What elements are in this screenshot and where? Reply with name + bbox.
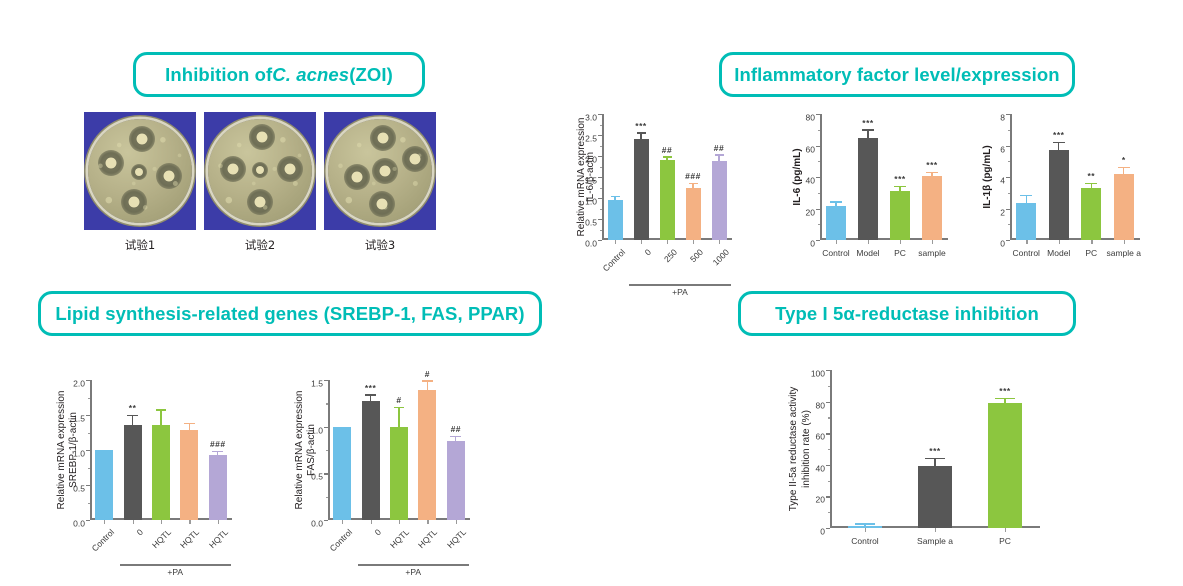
error-bar-cap bbox=[862, 129, 874, 130]
x-tick-mark bbox=[836, 240, 837, 244]
significance-marker: ## bbox=[662, 145, 672, 155]
error-bar-cap bbox=[365, 394, 376, 395]
significance-marker: ### bbox=[210, 439, 226, 449]
y-tick-mark bbox=[816, 146, 820, 147]
error-bar-cap bbox=[925, 458, 945, 459]
error-bar bbox=[931, 173, 932, 176]
y-tick-minor bbox=[828, 417, 831, 418]
y-axis-label-line2: IL-6/β-actin bbox=[585, 152, 598, 202]
y-tick-mark bbox=[1006, 240, 1010, 241]
x-tick-mark bbox=[932, 240, 933, 244]
y-tick-mark bbox=[826, 465, 830, 466]
bar-model bbox=[1049, 150, 1069, 240]
x-tick-mark bbox=[1005, 528, 1006, 532]
y-tick-minor bbox=[600, 125, 603, 126]
x-tick-mark bbox=[427, 520, 428, 524]
error-bar-cap bbox=[422, 380, 433, 381]
y-axis bbox=[820, 114, 822, 240]
bar-pc bbox=[988, 403, 1022, 528]
significance-marker: *** bbox=[929, 446, 940, 456]
group-bracket-label: +PA bbox=[167, 567, 183, 577]
x-tick-mark bbox=[399, 520, 400, 524]
x-tick-label: sample a bbox=[1107, 248, 1142, 258]
y-tick-mark bbox=[1006, 209, 1010, 210]
inhibition-zone bbox=[220, 156, 246, 182]
error-bar-cap bbox=[611, 196, 620, 197]
inhibition-zone bbox=[344, 164, 370, 190]
bar-control bbox=[826, 206, 846, 240]
reduct-title-text: Type I 5α-reductase inhibition bbox=[775, 303, 1039, 325]
x-tick-mark bbox=[865, 528, 866, 532]
y-axis bbox=[830, 370, 832, 528]
x-tick-mark bbox=[667, 240, 668, 244]
inhibition-zone bbox=[131, 164, 147, 180]
x-tick-mark bbox=[456, 520, 457, 524]
petri-caption-3: 试验3 bbox=[324, 237, 436, 253]
y-tick-minor bbox=[600, 167, 603, 168]
petri-plate-2: 试验2 bbox=[204, 112, 316, 253]
y-axis-label-line1: Relative mRNA expression bbox=[294, 391, 307, 510]
petri-plate-3: 试验3 bbox=[324, 112, 436, 253]
error-bar bbox=[835, 203, 836, 206]
y-tick-mark bbox=[826, 528, 830, 529]
bar-0 bbox=[634, 139, 649, 240]
significance-marker: *** bbox=[1053, 130, 1064, 140]
petri-dish-panel: 试验1试验2试验3 bbox=[84, 112, 436, 252]
group-bracket-label: +PA bbox=[405, 567, 421, 577]
error-bar-cap bbox=[1053, 142, 1065, 143]
x-tick-mark bbox=[133, 520, 134, 524]
x-tick-mark bbox=[900, 240, 901, 244]
error-bar-cap bbox=[995, 398, 1015, 399]
error-bar-cap bbox=[127, 415, 138, 416]
y-tick-minor bbox=[818, 130, 821, 131]
error-bar-cap bbox=[1085, 183, 1097, 184]
x-tick-label: Model bbox=[1047, 248, 1070, 258]
bar-model bbox=[858, 138, 878, 240]
bar-hqtl bbox=[180, 430, 198, 520]
bar-0 bbox=[362, 401, 380, 520]
error-bar bbox=[718, 156, 719, 161]
agar-plate bbox=[88, 119, 192, 223]
y-tick-mark bbox=[598, 219, 602, 220]
x-tick-label: Sample a bbox=[917, 536, 953, 546]
y-tick-mark bbox=[598, 198, 602, 199]
error-bar-cap bbox=[450, 436, 461, 437]
x-tick-mark bbox=[189, 520, 190, 524]
y-tick-mark bbox=[1006, 114, 1010, 115]
error-bar bbox=[1058, 143, 1059, 150]
agar-plate bbox=[328, 119, 432, 223]
bar-control bbox=[95, 450, 113, 520]
y-tick-minor bbox=[818, 193, 821, 194]
significance-marker: *** bbox=[635, 121, 646, 131]
x-tick-label: PC bbox=[1085, 248, 1097, 258]
petri-image-3 bbox=[324, 112, 436, 230]
significance-marker: ## bbox=[451, 424, 461, 434]
error-bar-cap bbox=[715, 154, 724, 155]
inhibition-zone bbox=[129, 126, 155, 152]
y-tick-minor bbox=[600, 230, 603, 231]
error-bar-cap bbox=[184, 423, 195, 424]
error-bar-cap bbox=[894, 186, 906, 187]
y-axis-label-line2: inhibition rate (%) bbox=[801, 410, 814, 488]
y-tick-mark bbox=[826, 402, 830, 403]
group-bracket-line bbox=[358, 564, 469, 566]
x-tick-mark bbox=[342, 520, 343, 524]
chart-srebp1-expression: Control0HQTLHQTLHQTL0.00.51.01.52.0**###… bbox=[48, 372, 246, 578]
error-bar bbox=[160, 411, 161, 425]
x-tick-label: Control bbox=[822, 248, 849, 258]
y-tick-mark bbox=[324, 520, 328, 521]
group-bracket-label: +PA bbox=[672, 287, 688, 297]
petri-caption-2: 试验2 bbox=[204, 237, 316, 253]
bar-sample-a bbox=[918, 466, 952, 528]
y-axis-label-line1: Relative mRNA expression bbox=[56, 391, 69, 510]
inhibition-zone bbox=[277, 156, 303, 182]
y-tick-mark bbox=[598, 156, 602, 157]
y-tick-minor bbox=[326, 450, 329, 451]
y-tick-mark bbox=[86, 415, 90, 416]
chart-il6-concentration: ControlModelPCsample020406080*********IL… bbox=[788, 106, 962, 298]
y-axis-label-line1: Type II-5a reductase activity bbox=[788, 387, 801, 512]
y-axis-label-line2: SREBP-1/β-actin bbox=[68, 412, 81, 488]
bar-control bbox=[1016, 203, 1036, 240]
y-tick-mark bbox=[826, 496, 830, 497]
x-tick-label: sample bbox=[918, 248, 945, 258]
inhibition-zone bbox=[98, 150, 124, 176]
error-bar-cap bbox=[394, 407, 405, 408]
section-title-lipid: Lipid synthesis-related genes (SREBP-1, … bbox=[38, 291, 542, 336]
bar-hqtl bbox=[447, 441, 465, 520]
y-tick-mark bbox=[86, 485, 90, 486]
inhibition-zone bbox=[372, 158, 398, 184]
significance-marker: ** bbox=[129, 403, 137, 413]
zoi-title-italic: C. acnes bbox=[272, 64, 349, 86]
y-tick-mark bbox=[826, 370, 830, 371]
x-tick-mark bbox=[104, 520, 105, 524]
error-bar bbox=[899, 187, 900, 191]
x-tick-mark bbox=[218, 520, 219, 524]
bar-control bbox=[333, 427, 351, 520]
y-tick-minor bbox=[88, 433, 91, 434]
x-tick-mark bbox=[371, 520, 372, 524]
error-bar bbox=[189, 424, 190, 430]
error-bar bbox=[455, 437, 456, 441]
x-tick-label: Control bbox=[851, 536, 878, 546]
inflam-title-text: Inflammatory factor level/expression bbox=[734, 64, 1059, 86]
y-axis-label: IL-1β (pg/mL) bbox=[982, 145, 995, 208]
group-bracket-line bbox=[629, 284, 730, 286]
y-tick-minor bbox=[88, 468, 91, 469]
y-axis bbox=[602, 114, 604, 240]
x-tick-mark bbox=[719, 240, 720, 244]
x-tick-mark bbox=[1091, 240, 1092, 244]
inhibition-zone bbox=[402, 146, 428, 172]
inhibition-zone bbox=[252, 162, 268, 178]
significance-marker: * bbox=[1122, 155, 1126, 165]
error-bar-cap bbox=[663, 156, 672, 157]
y-tick-mark bbox=[1006, 146, 1010, 147]
y-tick-mark bbox=[1006, 177, 1010, 178]
group-bracket-line bbox=[120, 564, 231, 566]
y-tick-minor bbox=[1008, 130, 1011, 131]
significance-marker: ## bbox=[714, 143, 724, 153]
inhibition-zone bbox=[247, 189, 273, 215]
chart-il6-mrna-expression: Control025050010000.00.51.01.52.02.53.0*… bbox=[568, 106, 746, 298]
significance-marker: ** bbox=[1087, 171, 1095, 181]
error-bar-cap bbox=[926, 172, 938, 173]
y-tick-mark bbox=[86, 520, 90, 521]
error-bar-cap bbox=[156, 409, 167, 410]
bar-0 bbox=[124, 425, 142, 520]
error-bar bbox=[640, 134, 641, 139]
chart-reductase-inhibition: ControlSample aPC020406080100******Type … bbox=[778, 362, 1054, 586]
significance-marker: *** bbox=[999, 386, 1010, 396]
error-bar-cap bbox=[855, 523, 875, 524]
significance-marker: *** bbox=[894, 174, 905, 184]
significance-marker: *** bbox=[365, 383, 376, 393]
error-bar bbox=[934, 459, 935, 465]
chart-il1b-concentration: ControlModelPCsample a02468******IL-1β (… bbox=[978, 106, 1154, 298]
x-tick-label: Model bbox=[856, 248, 879, 258]
significance-marker: # bbox=[425, 369, 430, 379]
y-tick-minor bbox=[818, 224, 821, 225]
petri-image-2 bbox=[204, 112, 316, 230]
chart-fas-expression: Control0HQTLHQTLHQTL0.00.51.01.5***####+… bbox=[286, 372, 484, 578]
error-bar bbox=[1026, 196, 1027, 203]
y-tick-minor bbox=[600, 188, 603, 189]
zoi-title-pre: Inhibition of bbox=[165, 64, 272, 86]
y-tick-mark bbox=[324, 380, 328, 381]
bar-pc bbox=[890, 191, 910, 240]
y-tick-minor bbox=[1008, 224, 1011, 225]
x-tick-mark bbox=[161, 520, 162, 524]
plot-area: 0.00.51.01.5***#### bbox=[328, 380, 470, 520]
y-tick-minor bbox=[828, 512, 831, 513]
y-tick-mark bbox=[598, 114, 602, 115]
significance-marker: ### bbox=[685, 171, 701, 181]
error-bar bbox=[1091, 184, 1092, 188]
error-bar-cap bbox=[212, 451, 223, 452]
lipid-title-text: Lipid synthesis-related genes (SREBP-1, … bbox=[55, 303, 524, 325]
significance-marker: *** bbox=[862, 118, 873, 128]
error-bar bbox=[1004, 399, 1005, 403]
significance-marker: *** bbox=[926, 160, 937, 170]
y-tick-mark bbox=[324, 427, 328, 428]
y-tick-mark bbox=[598, 240, 602, 241]
error-bar-cap bbox=[689, 183, 698, 184]
error-bar-cap bbox=[637, 132, 646, 133]
bar-hqtl bbox=[209, 455, 227, 520]
x-tick-mark bbox=[868, 240, 869, 244]
y-axis-label: IL-6 (pg/mL) bbox=[792, 148, 805, 205]
x-tick-mark bbox=[935, 528, 936, 532]
petri-image-1 bbox=[84, 112, 196, 230]
error-bar bbox=[614, 197, 615, 200]
y-tick-mark bbox=[816, 209, 820, 210]
bar-sample-a bbox=[1114, 174, 1134, 240]
y-tick-mark bbox=[86, 380, 90, 381]
inhibition-zone bbox=[156, 163, 182, 189]
error-bar bbox=[1123, 168, 1124, 174]
x-tick-mark bbox=[1059, 240, 1060, 244]
y-tick-mark bbox=[598, 135, 602, 136]
y-tick-minor bbox=[828, 386, 831, 387]
x-tick-label: Control bbox=[1013, 248, 1040, 258]
x-tick-label: PC bbox=[894, 248, 906, 258]
inhibition-zone bbox=[370, 125, 396, 151]
bar-control bbox=[608, 200, 623, 240]
y-tick-minor bbox=[828, 481, 831, 482]
inhibition-zone bbox=[249, 124, 275, 150]
inhibition-zone bbox=[369, 191, 395, 217]
bar-250 bbox=[660, 160, 675, 240]
bar-hqtl bbox=[152, 425, 170, 520]
y-axis bbox=[90, 380, 92, 520]
y-tick-mark bbox=[324, 473, 328, 474]
plot-area: 0.00.51.01.52.0**### bbox=[90, 380, 232, 520]
y-tick-minor bbox=[326, 497, 329, 498]
error-bar bbox=[370, 396, 371, 401]
section-title-inflammatory: Inflammatory factor level/expression bbox=[719, 52, 1075, 97]
x-tick-mark bbox=[693, 240, 694, 244]
x-tick-mark bbox=[1124, 240, 1125, 244]
plot-area: 020406080100****** bbox=[830, 370, 1040, 528]
plot-area: 02468****** bbox=[1010, 114, 1140, 240]
significance-marker: # bbox=[396, 395, 401, 405]
x-tick-mark bbox=[1026, 240, 1027, 244]
error-bar-cap bbox=[1020, 195, 1032, 196]
y-tick-mark bbox=[816, 114, 820, 115]
y-tick-minor bbox=[88, 398, 91, 399]
plot-area: 0.00.51.01.52.02.53.0***####### bbox=[602, 114, 732, 240]
y-axis bbox=[1010, 114, 1012, 240]
y-tick-minor bbox=[88, 503, 91, 504]
x-tick-mark bbox=[641, 240, 642, 244]
error-bar bbox=[398, 408, 399, 427]
y-tick-minor bbox=[326, 403, 329, 404]
petri-plate-1: 试验1 bbox=[84, 112, 196, 253]
bar-hqtl bbox=[390, 427, 408, 520]
error-bar bbox=[867, 131, 868, 138]
inhibition-zone bbox=[121, 189, 147, 215]
zoi-title-post: (ZOI) bbox=[349, 64, 393, 86]
error-bar-cap bbox=[1118, 167, 1130, 168]
error-bar bbox=[217, 452, 218, 455]
error-bar bbox=[692, 184, 693, 187]
y-tick-mark bbox=[598, 177, 602, 178]
y-tick-mark bbox=[816, 177, 820, 178]
error-bar bbox=[132, 416, 133, 424]
section-title-zoi: Inhibition of C. acnes (ZOI) bbox=[133, 52, 425, 97]
y-tick-minor bbox=[828, 449, 831, 450]
bar-sample bbox=[922, 176, 942, 240]
y-tick-minor bbox=[1008, 161, 1011, 162]
bar-hqtl bbox=[418, 390, 436, 520]
y-tick-minor bbox=[600, 146, 603, 147]
y-axis bbox=[328, 380, 330, 520]
y-tick-minor bbox=[600, 209, 603, 210]
error-bar bbox=[864, 525, 865, 526]
bar-pc bbox=[1081, 188, 1101, 240]
bar-500 bbox=[686, 188, 701, 241]
petri-caption-1: 试验1 bbox=[84, 237, 196, 253]
y-axis-label-line2: FAS/β-actin bbox=[306, 424, 319, 476]
y-tick-minor bbox=[818, 161, 821, 162]
error-bar bbox=[666, 158, 667, 160]
y-tick-mark bbox=[826, 433, 830, 434]
error-bar-cap bbox=[830, 201, 842, 202]
agar-plate bbox=[208, 119, 312, 223]
x-tick-label: PC bbox=[999, 536, 1011, 546]
y-tick-minor bbox=[1008, 193, 1011, 194]
y-tick-mark bbox=[86, 450, 90, 451]
plot-area: 020406080********* bbox=[820, 114, 948, 240]
bar-1000 bbox=[712, 161, 727, 240]
y-tick-mark bbox=[816, 240, 820, 241]
x-tick-mark bbox=[615, 240, 616, 244]
error-bar bbox=[427, 382, 428, 390]
